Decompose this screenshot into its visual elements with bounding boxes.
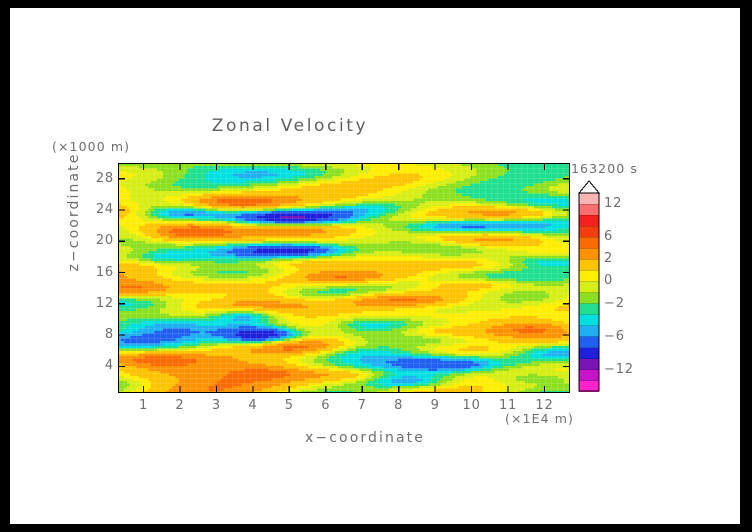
colorbar-tick-labels: 12620−2−6−12	[604, 180, 664, 392]
colorbar-tick-label: −6	[604, 329, 625, 344]
x-axis-ticks: 123456789101112	[118, 396, 570, 416]
x-tick-label: 10	[460, 398, 484, 413]
page-title: Zonal Velocity	[10, 116, 570, 136]
x-tick-label: 2	[168, 398, 192, 413]
x-tick-label: 6	[314, 398, 338, 413]
y-tick-label: 12	[96, 296, 114, 311]
colorbar-tick-label: 12	[604, 196, 622, 211]
figure-canvas: Zonal Velocity (×1000 m) (×1E4 m) x−coor…	[10, 8, 740, 524]
x-tick-label: 8	[387, 398, 411, 413]
x-tick-label: 1	[132, 398, 156, 413]
colorbar-tick-label: −2	[604, 296, 625, 311]
colorbar-tick-label: −12	[604, 362, 634, 377]
x-tick-label: 7	[350, 398, 374, 413]
colorbar-tick-label: 0	[604, 273, 613, 288]
screenshot-root: Zonal Velocity (×1000 m) (×1E4 m) x−coor…	[0, 0, 752, 532]
y-tick-label: 4	[105, 358, 114, 373]
contour-plot-svg	[118, 163, 570, 393]
x-tick-label: 3	[204, 398, 228, 413]
colorbar-tick-label: 2	[604, 251, 613, 266]
colorbar-svg	[578, 180, 600, 392]
y-tick-label: 24	[96, 202, 114, 217]
colorbar	[578, 180, 600, 392]
x-axis-label: x−coordinate	[195, 430, 535, 446]
y-tick-label: 28	[96, 171, 114, 186]
y-tick-label: 8	[105, 327, 114, 342]
colorbar-tick-label: 6	[604, 229, 613, 244]
x-tick-label: 9	[423, 398, 447, 413]
x-tick-label: 4	[241, 398, 265, 413]
x-tick-label: 5	[277, 398, 301, 413]
x-tick-label: 12	[532, 398, 556, 413]
contour-plot-area	[118, 163, 570, 393]
y-axis-unit-label: (×1000 m)	[52, 139, 130, 154]
y-tick-label: 20	[96, 233, 114, 248]
y-axis-ticks: 481216202428	[70, 163, 114, 393]
timestamp-annotation: 163200 s	[571, 161, 638, 176]
x-tick-label: 11	[496, 398, 520, 413]
y-tick-label: 16	[96, 265, 114, 280]
